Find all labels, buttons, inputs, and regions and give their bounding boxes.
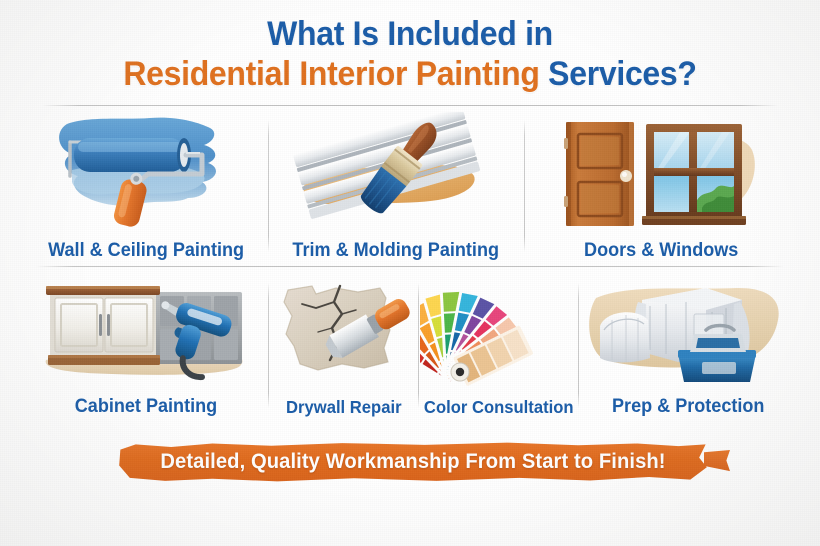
title-line-2: Residential Interior Painting Services? bbox=[25, 54, 796, 94]
divider-middle bbox=[36, 266, 784, 267]
service-card-wall-ceiling-painting[interactable]: Wall & Ceiling Painting bbox=[26, 112, 266, 262]
service-card-cabinet-painting[interactable]: Cabinet Painting bbox=[24, 276, 268, 418]
service-card-label: Color Consultation bbox=[424, 396, 574, 418]
service-card-color-consultation[interactable]: Color Consultation bbox=[420, 276, 578, 418]
divider-vertical-r2-2 bbox=[418, 283, 419, 408]
service-card-label: Prep & Protection bbox=[612, 396, 764, 418]
banner-stroke-tail bbox=[704, 450, 730, 472]
banner-text: Detailed, Quality Workmanship From Start… bbox=[130, 440, 696, 484]
title-line-1: What Is Included in bbox=[25, 14, 796, 54]
divider-top bbox=[42, 105, 778, 106]
service-card-label: Drywall Repair bbox=[286, 396, 401, 418]
cracked-drywall-putty-knife-icon bbox=[272, 276, 416, 396]
door-and-window-icon bbox=[530, 112, 792, 240]
service-card-trim-molding-painting[interactable]: Trim & Molding Painting bbox=[272, 112, 520, 262]
cabinet-spray-gun-icon bbox=[24, 276, 268, 396]
paint-roller-icon bbox=[26, 112, 266, 240]
paint-brush-icon bbox=[272, 112, 520, 240]
service-card-label: Trim & Molding Painting bbox=[293, 240, 500, 262]
title-suffix: Services? bbox=[540, 55, 697, 93]
divider-vertical-r1-1 bbox=[268, 120, 269, 252]
page-title: What Is Included in Residential Interior… bbox=[0, 14, 820, 94]
title-highlight: Residential Interior Painting bbox=[123, 55, 539, 93]
service-card-doors-windows[interactable]: Doors & Windows bbox=[530, 112, 792, 262]
divider-vertical-r2-1 bbox=[268, 283, 269, 408]
service-card-label: Doors & Windows bbox=[584, 240, 738, 262]
bottom-banner: Detailed, Quality Workmanship From Start… bbox=[118, 440, 708, 484]
color-fan-deck-icon bbox=[420, 276, 578, 396]
divider-vertical-r2-3 bbox=[578, 283, 579, 408]
service-card-prep-protection[interactable]: Prep & Protection bbox=[582, 276, 794, 418]
service-card-label: Wall & Ceiling Painting bbox=[48, 240, 244, 262]
divider-vertical-r1-2 bbox=[524, 120, 525, 252]
service-card-label: Cabinet Painting bbox=[75, 396, 217, 418]
drop-cloth-toolbox-icon bbox=[582, 276, 794, 396]
service-card-drywall-repair[interactable]: Drywall Repair bbox=[272, 276, 416, 418]
